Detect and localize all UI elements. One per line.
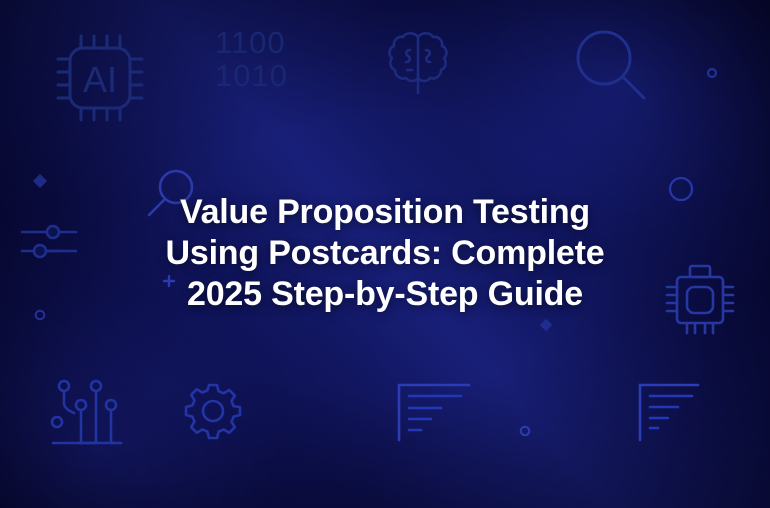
page-title-line-1: Value Proposition Testing — [180, 193, 590, 231]
page-title-line-2: Using Postcards: Complete — [166, 234, 605, 272]
page-title: Value Proposition Testing Using Postcard… — [0, 192, 770, 315]
hero-title-block: Value Proposition Testing Using Postcard… — [0, 192, 770, 315]
hero-banner: AI 1100 1010 — [0, 0, 770, 508]
page-title-line-3: 2025 Step-by-Step Guide — [187, 275, 583, 313]
